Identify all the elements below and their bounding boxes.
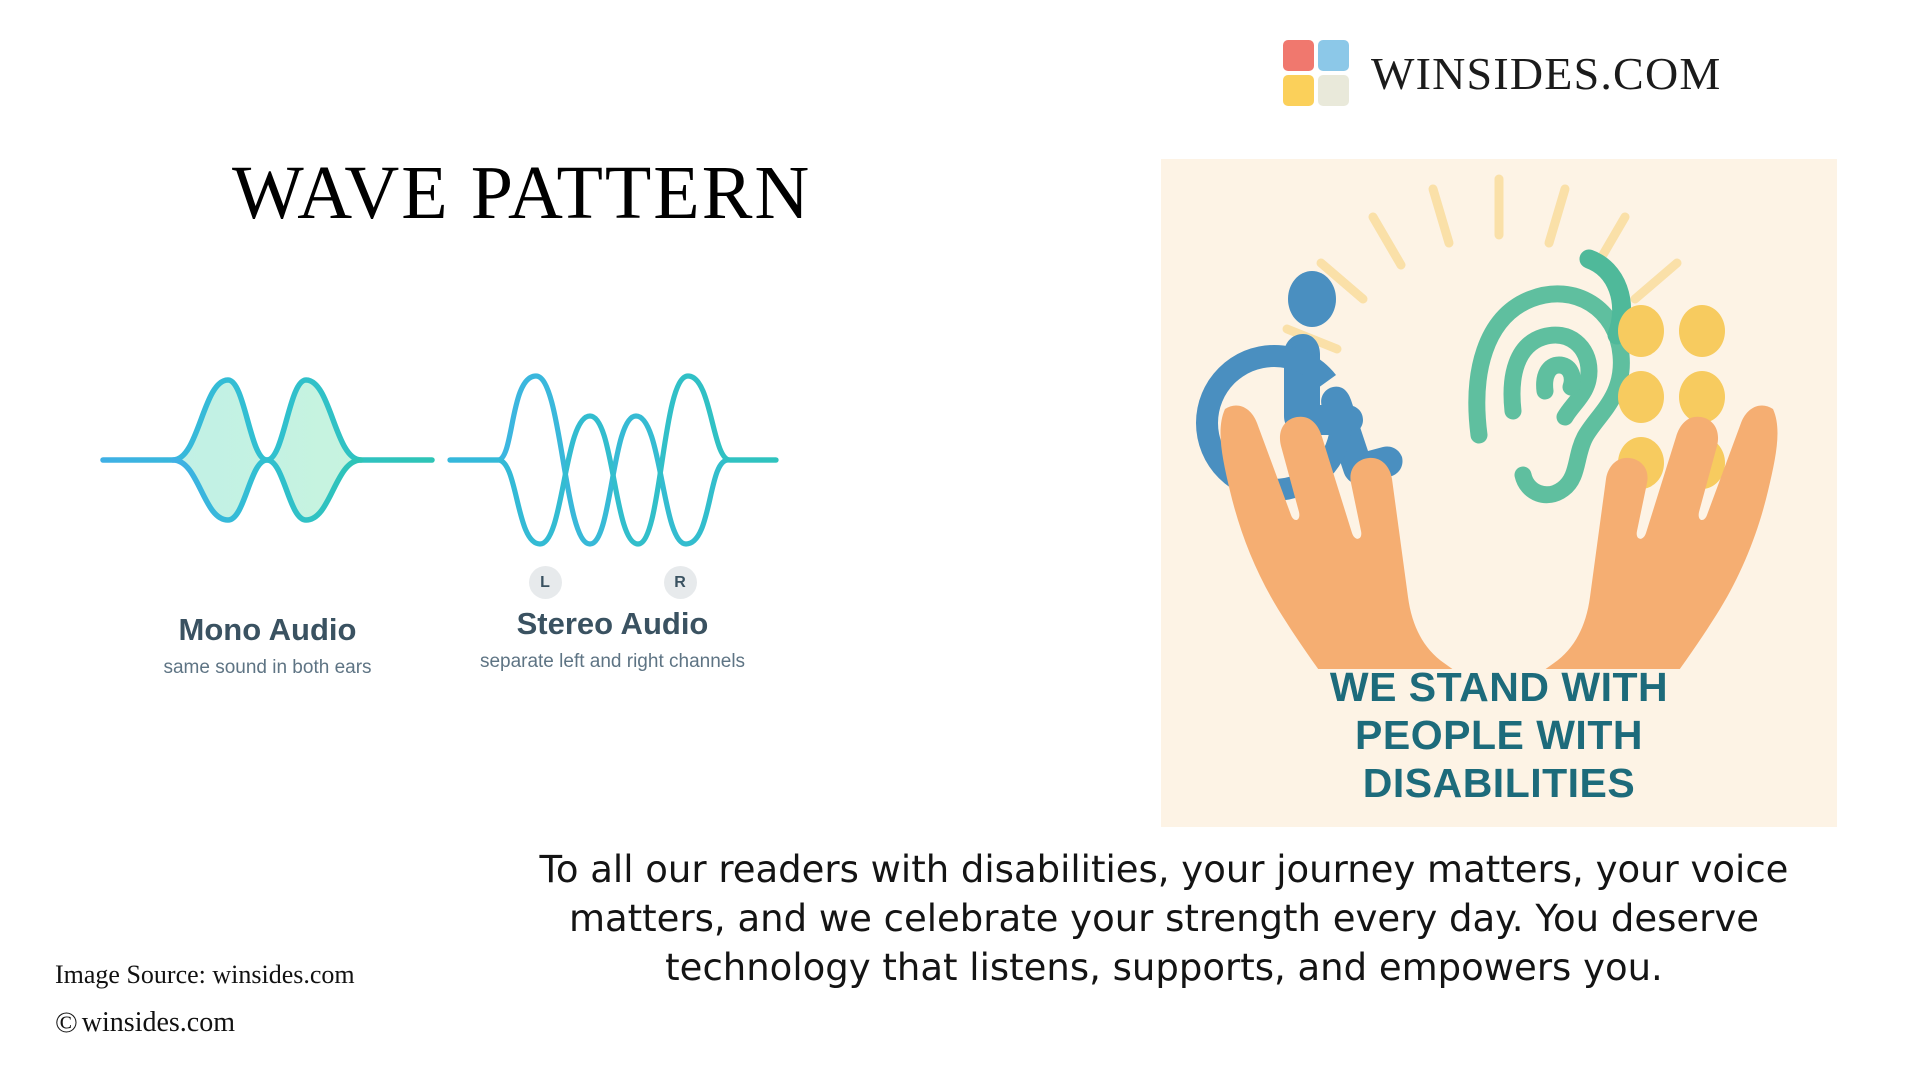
poster-headline-line2: PEOPLE WITH (1161, 712, 1837, 760)
stereo-audio-label: Stereo Audio (440, 606, 785, 642)
copyright-icon: © (55, 1006, 78, 1040)
accessibility-illustration (1161, 159, 1837, 669)
poster-headline-line1: WE STAND WITH (1161, 664, 1837, 712)
image-source-text: Image Source: winsides.com (55, 960, 355, 990)
poster-headline-line3: DISABILITIES (1161, 760, 1837, 808)
stereo-waveform-graphic (440, 360, 785, 560)
left-channel-badge: L (529, 566, 562, 599)
mono-waveform-graphic (95, 360, 440, 560)
mono-audio-label: Mono Audio (95, 612, 440, 648)
poster-headline: WE STAND WITH PEOPLE WITH DISABILITIES (1161, 664, 1837, 808)
stereo-audio-subtitle: separate left and right channels (440, 651, 785, 673)
page-title: WAVE PATTERN (232, 150, 811, 237)
mono-audio-subtitle: same sound in both ears (95, 657, 440, 679)
copyright-line: © winsides.com (55, 1006, 355, 1040)
logo-square-blue (1318, 40, 1349, 71)
right-channel-badge: R (664, 566, 697, 599)
brand-logo[interactable]: WINSIDES.COM (1283, 40, 1721, 106)
footer: Image Source: winsides.com © winsides.co… (55, 960, 355, 1040)
logo-square-cream (1318, 75, 1349, 106)
support-message: To all our readers with disabilities, yo… (489, 845, 1839, 993)
logo-square-red (1283, 40, 1314, 71)
brand-name: WINSIDES.COM (1371, 47, 1721, 100)
logo-square-yellow (1283, 75, 1314, 106)
copyright-text: winsides.com (82, 1007, 235, 1039)
mono-audio-card: Mono Audio same sound in both ears (95, 360, 440, 679)
stereo-audio-card: L R Stereo Audio separate left and right… (440, 360, 785, 673)
accessibility-poster: WE STAND WITH PEOPLE WITH DISABILITIES (1161, 159, 1837, 827)
winsides-logo-icon (1283, 40, 1349, 106)
stereo-channel-badges: L R (440, 566, 785, 606)
ear-hearing-icon (1477, 294, 1622, 495)
